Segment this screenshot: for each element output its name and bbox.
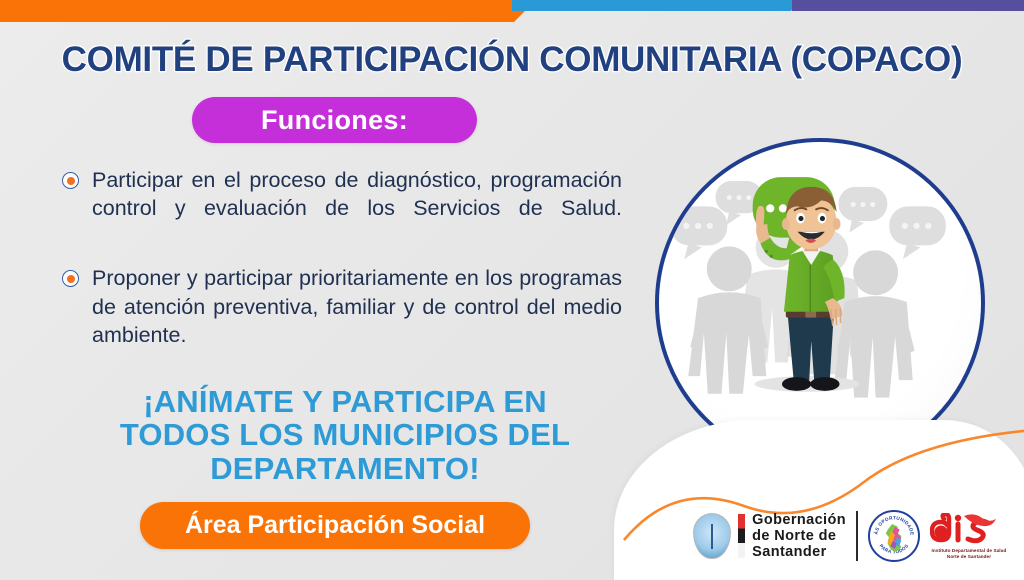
ids-logo-subtitle: Instituto Departamental de Salud Norte d… bbox=[932, 548, 1007, 559]
area-participacion-social-button[interactable]: Área Participación Social bbox=[140, 502, 530, 549]
illustration-circle-frame bbox=[655, 138, 985, 468]
illustration-container bbox=[655, 138, 985, 468]
top-band-orange bbox=[0, 0, 536, 22]
gobernacion-logo-text: Gobernación de Norte de Santander bbox=[752, 512, 846, 561]
gobernacion-line-1: Gobernación bbox=[752, 512, 846, 528]
area-button-label: Área Participación Social bbox=[185, 511, 485, 540]
ids-logo: Instituto Departamental de Salud Norte d… bbox=[930, 513, 1008, 559]
cta-line-2: TODOS LOS MUNICIPIOS DEL bbox=[40, 418, 650, 451]
gobernacion-line-2: de Norte de bbox=[752, 528, 846, 544]
footer-logos: Gobernación de Norte de Santander MÁS OP… bbox=[693, 510, 1008, 562]
call-to-action-heading: ¡ANÍMATE Y PARTICIPA EN TODOS LOS MUNICI… bbox=[40, 385, 650, 485]
logo-divider bbox=[856, 511, 858, 561]
list-item: Proponer y participar prioritariamente e… bbox=[62, 264, 622, 378]
community-participation-illustration bbox=[659, 142, 981, 464]
gobernacion-logo: Gobernación de Norte de Santander bbox=[693, 512, 846, 561]
page-title: COMITÉ DE PARTICIPACIÓN COMUNITARIA (COP… bbox=[0, 40, 1024, 80]
funciones-badge: Funciones: bbox=[192, 97, 477, 143]
cta-line-3: DEPARTAMENTO! bbox=[40, 452, 650, 485]
flag-bar-icon bbox=[738, 514, 745, 558]
radio-bullet-icon bbox=[62, 172, 79, 189]
funciones-badge-label: Funciones: bbox=[261, 105, 408, 136]
mas-oportunidades-logo: MÁS OPORTUNIDADES PARA TODOS bbox=[868, 510, 920, 562]
ids-mark-icon bbox=[930, 513, 1008, 547]
ids-sub-line-1: Instituto Departamental de Salud bbox=[932, 548, 1007, 554]
poster-canvas: COMITÉ DE PARTICIPACIÓN COMUNITARIA (COP… bbox=[0, 0, 1024, 580]
ids-sub-line-2: Norte de Santander bbox=[932, 554, 1007, 560]
coat-of-arms-icon bbox=[693, 513, 731, 559]
gobernacion-line-3: Santander bbox=[752, 544, 846, 560]
functions-list: Participar en el proceso de diagnóstico,… bbox=[62, 166, 622, 391]
list-item: Participar en el proceso de diagnóstico,… bbox=[62, 166, 622, 251]
top-band-purple bbox=[792, 0, 1024, 11]
top-band-cyan bbox=[512, 0, 802, 11]
cta-line-1: ¡ANÍMATE Y PARTICIPA EN bbox=[40, 385, 650, 418]
list-item-text: Participar en el proceso de diagnóstico,… bbox=[92, 166, 622, 251]
radio-bullet-icon bbox=[62, 270, 79, 287]
list-item-text: Proponer y participar prioritariamente e… bbox=[92, 264, 622, 378]
mas-oportunidades-seal-icon: MÁS OPORTUNIDADES PARA TODOS bbox=[870, 510, 918, 562]
